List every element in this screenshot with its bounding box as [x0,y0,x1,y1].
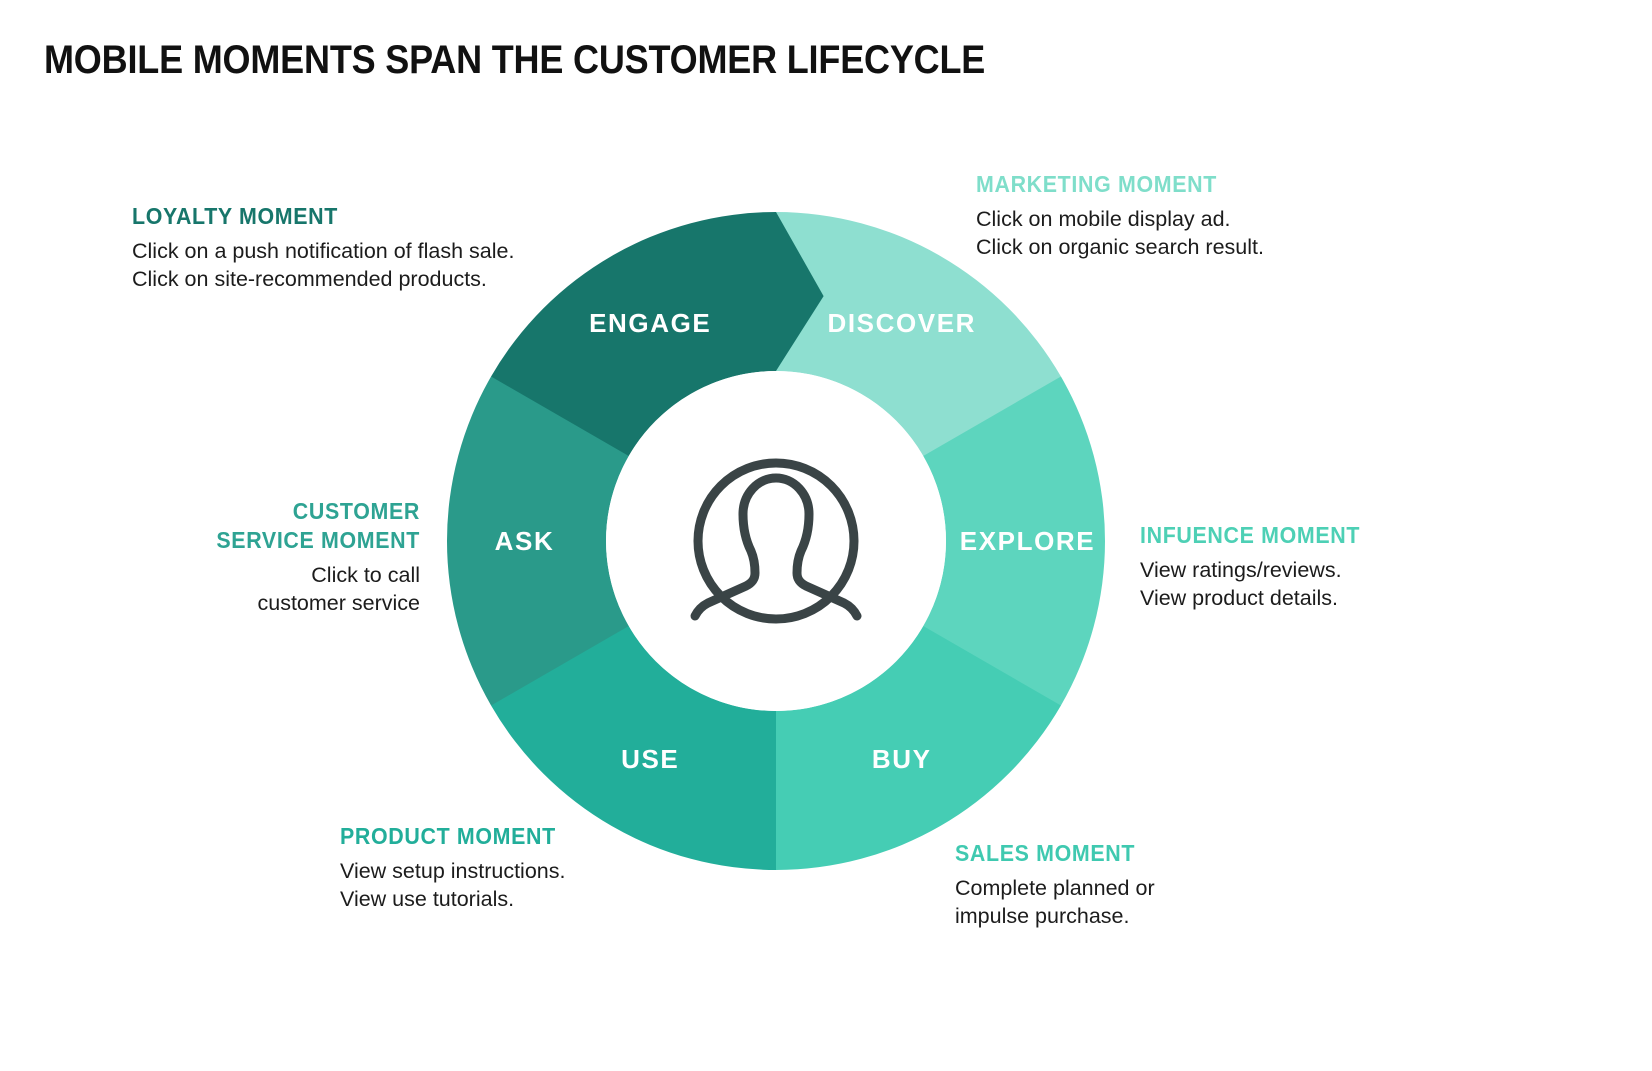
callout-marketing-moment: MARKETING MOMENT Click on mobile display… [976,170,1406,262]
callout-product-heading: PRODUCT MOMENT [340,822,740,851]
wheel-label-ask: ASK [495,526,555,556]
callout-customer-service-heading: CUSTOMER SERVICE MOMENT [20,497,420,555]
callout-customer-service-body: Click to call customer service [0,561,420,618]
wheel-inner-hub [606,371,946,711]
callout-loyalty-body: Click on a push notification of flash sa… [132,237,562,294]
callout-sales-heading: SALES MOMENT [955,839,1355,868]
customer-lifecycle-wheel: DISCOVEREXPLOREBUYUSEASKENGAGE [442,207,1110,875]
callout-marketing-heading: MARKETING MOMENT [976,170,1376,199]
callout-product-moment: PRODUCT MOMENT View setup instructions. … [340,822,770,914]
wheel-label-buy: BUY [872,744,932,774]
wheel-label-explore: EXPLORE [960,526,1095,556]
page-title: MOBILE MOMENTS SPAN THE CUSTOMER LIFECYC… [44,38,985,83]
callout-sales-body: Complete planned or impulse purchase. [955,874,1385,931]
callout-product-body: View setup instructions. View use tutori… [340,857,770,914]
callout-influence-body: View ratings/reviews. View product detai… [1140,556,1570,613]
wheel-label-use: USE [621,744,679,774]
callout-influence-heading: INFUENCE MOMENT [1140,521,1540,550]
callout-customer-service-moment: CUSTOMER SERVICE MOMENT Click to call cu… [0,497,420,617]
callout-loyalty-heading: LOYALTY MOMENT [132,202,532,231]
callout-loyalty-moment: LOYALTY MOMENT Click on a push notificat… [132,202,562,294]
wheel-label-engage: ENGAGE [589,308,711,338]
callout-marketing-body: Click on mobile display ad. Click on org… [976,205,1406,262]
callout-sales-moment: SALES MOMENT Complete planned or impulse… [955,839,1385,931]
wheel-label-discover: DISCOVER [827,308,976,338]
callout-influence-moment: INFUENCE MOMENT View ratings/reviews. Vi… [1140,521,1570,613]
